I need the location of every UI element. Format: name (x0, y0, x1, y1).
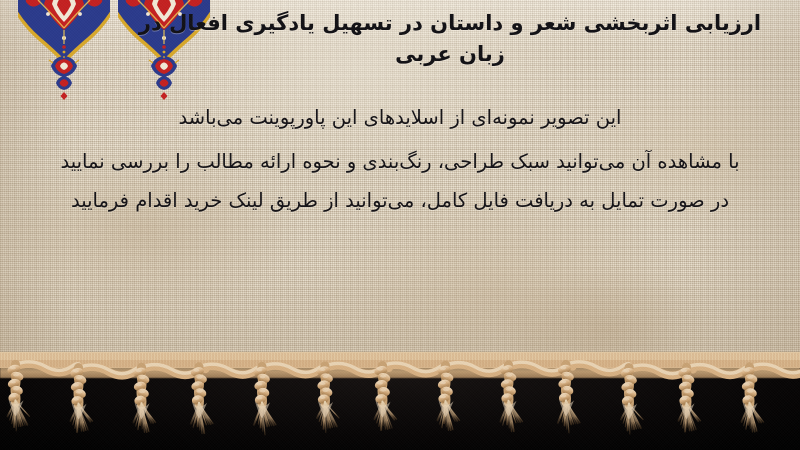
slide-title-line-1: ارزیابی اثربخشی شعر و داستان در تسهیل یا… (139, 11, 761, 35)
canvas-bottom-selvedge (0, 356, 800, 378)
body-line-3: در صورت تمایل به دریافت فایل کامل، می‌تو… (30, 191, 770, 211)
body-line-1: این تصویر نمونه‌ای از اسلایدهای این پاور… (30, 108, 770, 128)
black-background-field (0, 368, 800, 450)
presentation-slide: ارزیابی اثربخشی شعر و داستان در تسهیل یا… (0, 0, 800, 450)
body-line-2: با مشاهده آن می‌توانید سبک طراحی، رنگ‌بن… (30, 152, 770, 172)
slide-title-line-2: زبان عربی (395, 42, 505, 66)
slide-title: ارزیابی اثربخشی شعر و داستان در تسهیل یا… (120, 8, 780, 70)
slide-body-text: این تصویر نمونه‌ای از اسلایدهای این پاور… (30, 108, 770, 211)
